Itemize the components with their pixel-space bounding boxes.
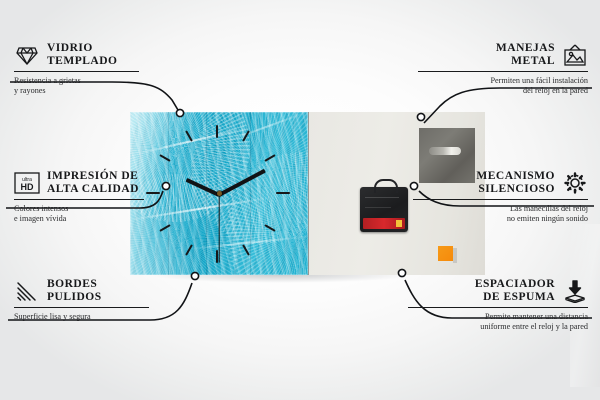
foam-spacer-icon xyxy=(562,279,588,303)
callout-description: Las manecillas del reloj no emiten ningú… xyxy=(413,204,588,224)
panel-band xyxy=(206,112,207,275)
callout-title: BORDES PULIDOS xyxy=(47,278,102,304)
callout-description: Superficie lisa y segura xyxy=(14,312,149,322)
clock-tick xyxy=(146,192,160,194)
panel-band xyxy=(168,112,169,275)
svg-text:HD: HD xyxy=(21,182,34,192)
feather-texture xyxy=(226,152,308,275)
movement-hanger-loop xyxy=(374,179,398,193)
callout-mecanismo-silencioso: MECANISMO SILENCIOSO Las manecillas del … xyxy=(413,170,588,224)
callout-rule xyxy=(14,307,149,308)
callout-rule xyxy=(14,71,139,72)
callout-impresion-alta-calidad: ultra HD IMPRESIÓN DE ALTA CALIDAD Color… xyxy=(14,170,144,224)
callout-title: MANEJAS METAL xyxy=(496,42,555,68)
callout-rule xyxy=(14,199,144,200)
callout-vidrio-templado: VIDRIO TEMPLADO Resistencia a grietas y … xyxy=(14,42,139,96)
clock-tick xyxy=(185,244,193,255)
callout-title: ESPACIADOR DE ESPUMA xyxy=(475,278,555,304)
callout-bordes-pulidos: BORDES PULIDOS Superficie lisa y segura xyxy=(14,278,149,322)
movement-detail xyxy=(365,207,391,208)
hanger-slot xyxy=(429,147,461,155)
callout-rule xyxy=(418,71,588,72)
clock-center-hub xyxy=(217,191,222,196)
clock-tick xyxy=(276,192,290,194)
callout-description: Permite mantener una distancia uniforme … xyxy=(408,312,588,332)
clock-tick xyxy=(242,130,250,141)
clock-tick xyxy=(242,244,250,255)
callout-description: Resistencia a grietas y rayones xyxy=(14,76,139,96)
battery xyxy=(363,218,405,229)
diamond-icon xyxy=(14,43,40,67)
light-streak xyxy=(221,112,308,144)
clock-minute-hand xyxy=(218,169,266,197)
clock-front-panel xyxy=(130,112,308,275)
callout-espaciador-espuma: ESPACIADOR DE ESPUMA Permite mantener un… xyxy=(408,278,588,332)
callout-description: Colores intensos e imagen vívida xyxy=(14,204,144,224)
foam-spacer xyxy=(438,246,453,261)
light-streak xyxy=(130,196,273,221)
callout-rule xyxy=(408,307,588,308)
clock-tick xyxy=(264,224,275,232)
callout-title: IMPRESIÓN DE ALTA CALIDAD xyxy=(47,170,139,196)
movement-detail xyxy=(365,197,399,198)
clock-movement xyxy=(360,187,408,232)
infographic-canvas: VIDRIO TEMPLADO Resistencia a grietas y … xyxy=(0,0,600,400)
callout-title: VIDRIO TEMPLADO xyxy=(47,42,117,68)
panel-band xyxy=(250,112,251,275)
clock-tick xyxy=(264,154,275,162)
callout-manejas-metal: MANEJAS METAL Permiten una fácil instala… xyxy=(418,42,588,96)
clock-hour-hand xyxy=(186,178,220,197)
clock-tick xyxy=(216,125,218,138)
ultra-hd-icon: ultra HD xyxy=(14,171,40,195)
callout-description: Permiten una fácil instalación del reloj… xyxy=(418,76,588,96)
callout-rule xyxy=(413,199,588,200)
polished-edges-icon xyxy=(14,279,40,303)
clock-second-hand xyxy=(218,195,219,263)
picture-hanger-icon xyxy=(562,43,588,67)
gear-icon xyxy=(562,171,588,195)
callout-title: MECANISMO SILENCIOSO xyxy=(476,170,555,196)
